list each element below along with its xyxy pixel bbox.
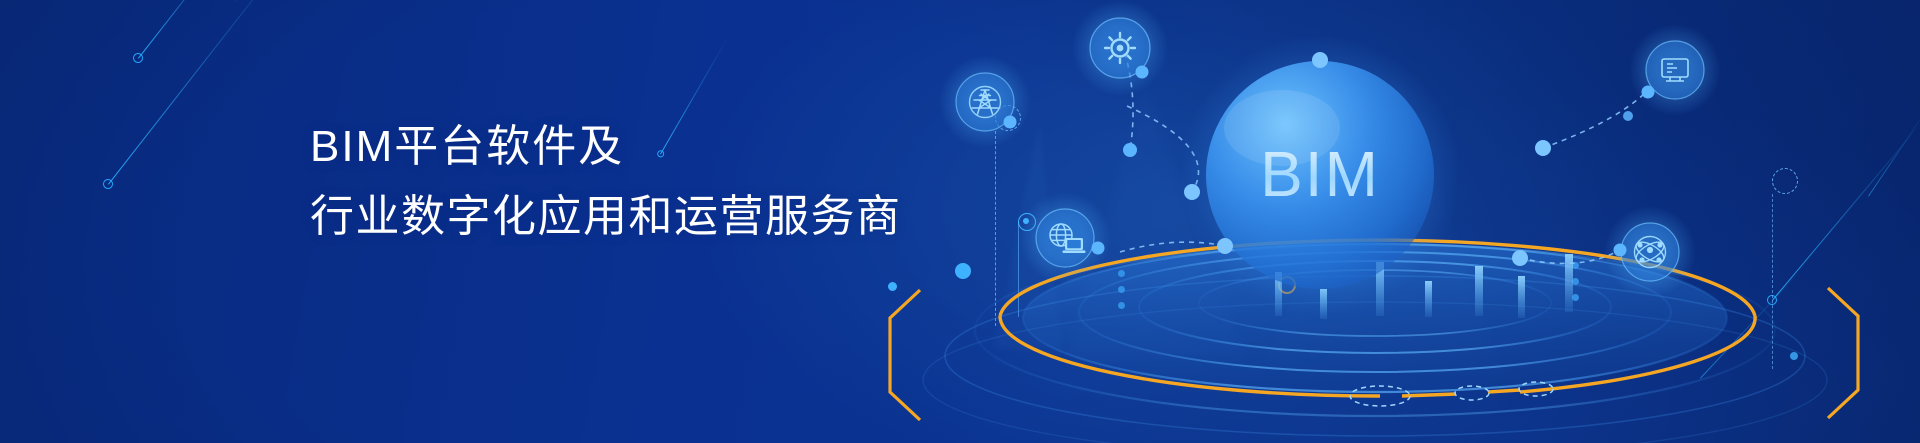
node-anchor-dot <box>1004 116 1017 129</box>
bim-sphere: BIM <box>1180 35 1460 315</box>
node-anchor-dot <box>1092 242 1105 255</box>
node-network <box>1604 206 1696 298</box>
hero-headline: BIM平台软件及 行业数字化应用和运营服务商 <box>310 112 902 252</box>
hero-banner: BIM平台软件及 行业数字化应用和运营服务商 <box>0 0 1920 443</box>
headline-line-2: 行业数字化应用和运营服务商 <box>310 182 902 252</box>
gear-icon <box>1105 33 1135 63</box>
node-anchor-dot <box>1642 86 1655 99</box>
headline-line-1: BIM平台软件及 <box>310 112 902 182</box>
node-anchor-dot <box>1614 244 1627 257</box>
bracket-left <box>890 290 920 420</box>
node-power-tower <box>939 56 1031 148</box>
node-monitor <box>1623 24 1721 121</box>
sphere-label: BIM <box>1260 138 1380 210</box>
bracket-right <box>1828 288 1858 418</box>
node-globe-laptop <box>1019 192 1111 284</box>
node-anchor-dot <box>1136 66 1149 79</box>
bim-illustration: BIM <box>820 0 1920 443</box>
node-gear <box>1072 0 1168 96</box>
node-anchor-dot <box>1623 111 1633 121</box>
